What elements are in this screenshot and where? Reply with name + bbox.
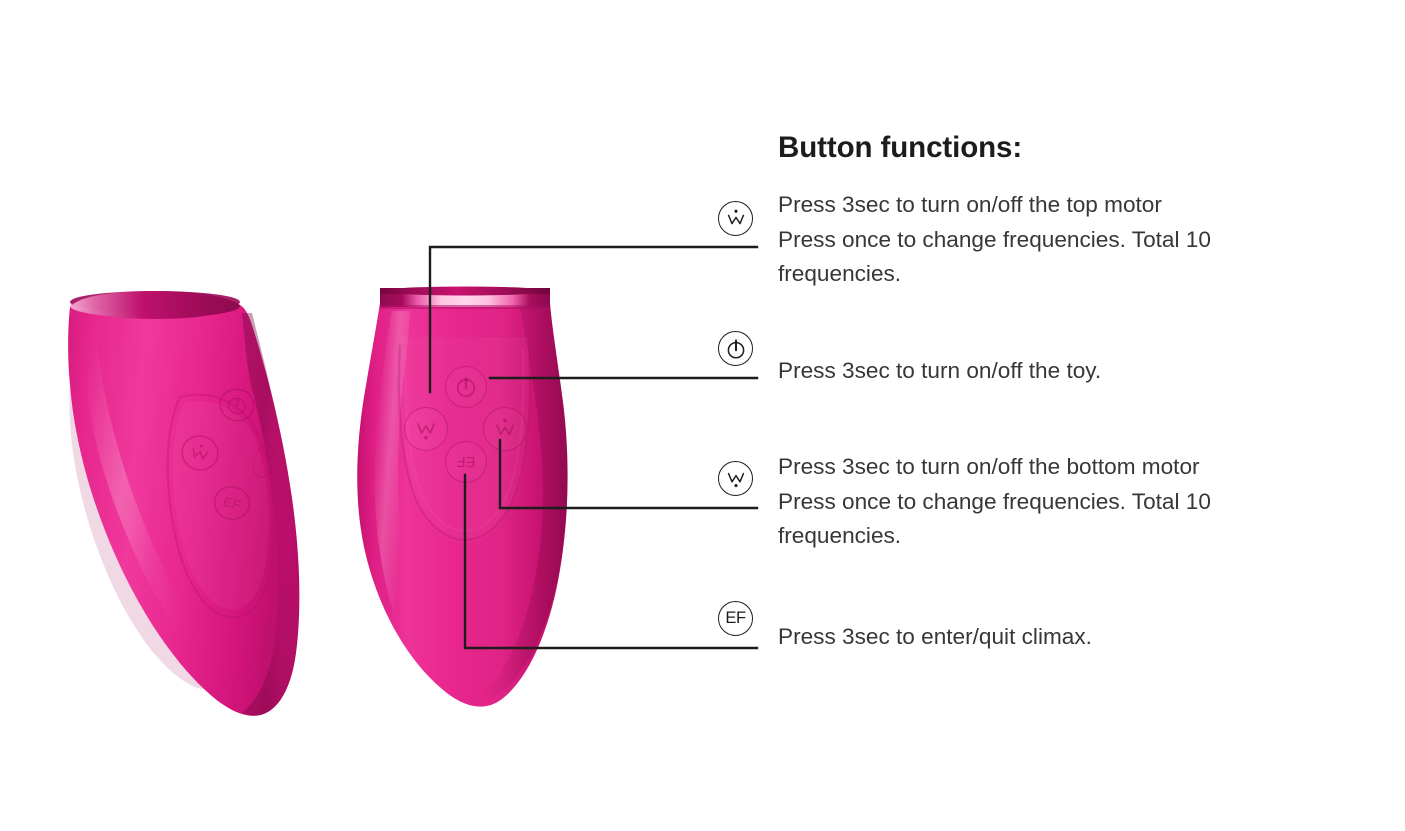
device-bottom-motor-button[interactable] xyxy=(404,407,448,451)
legend-line: frequencies. xyxy=(778,257,1211,292)
legend-text-bottom-motor: Press 3sec to turn on/off the bottom mot… xyxy=(778,450,1211,554)
legend-line: Press 3sec to turn on/off the toy. xyxy=(778,354,1101,389)
ef-icon: EF xyxy=(718,601,753,636)
w-dot-above-icon xyxy=(718,201,753,236)
power-icon xyxy=(718,331,753,366)
ef-icon-label: EF xyxy=(725,609,745,628)
legend-text-top-motor: Press 3sec to turn on/off the top motor … xyxy=(778,188,1211,292)
diagram-canvas: EF xyxy=(0,0,1405,831)
legend-text-power: Press 3sec to turn on/off the toy. xyxy=(778,354,1101,389)
legend-line: Press 3sec to turn on/off the bottom mot… xyxy=(778,450,1211,485)
legend-line: Press once to change frequencies. Total … xyxy=(778,223,1211,258)
product-front-view: EF xyxy=(352,285,602,715)
legend-line: Press 3sec to turn on/off the top motor xyxy=(778,188,1211,223)
legend-line: Press once to change frequencies. Total … xyxy=(778,485,1211,520)
legend-line: Press 3sec to enter/quit climax. xyxy=(778,620,1092,655)
legend-line: frequencies. xyxy=(778,519,1211,554)
device-climax-button[interactable]: EF xyxy=(445,441,487,483)
w-dot-below-icon xyxy=(718,461,753,496)
device-top-motor-button[interactable] xyxy=(483,407,527,451)
device-power-button[interactable] xyxy=(445,366,487,408)
page-title: Button functions: xyxy=(778,131,1022,165)
svg-text:EF: EF xyxy=(457,453,476,469)
product-illustrations: EF xyxy=(0,0,700,831)
legend-panel: Button functions: Press 3sec to turn on/… xyxy=(700,0,1405,831)
legend-text-climax: Press 3sec to enter/quit climax. xyxy=(778,620,1092,655)
product-angled-view: EF xyxy=(52,285,322,735)
